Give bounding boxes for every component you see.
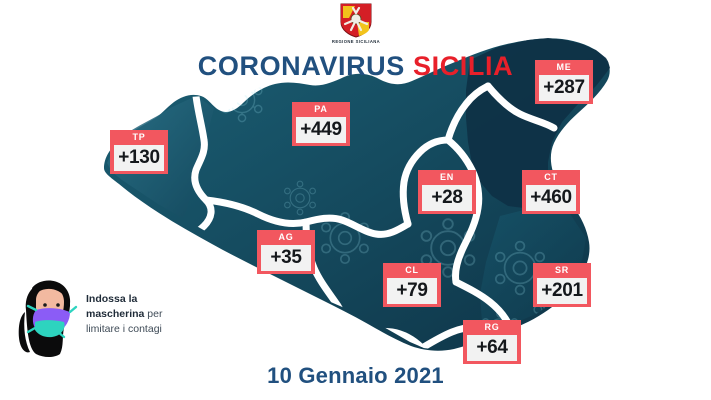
province-badge-me[interactable]: ME +287 — [535, 60, 593, 104]
province-code-me: ME — [535, 60, 593, 75]
woman-wearing-mask-icon — [14, 276, 80, 360]
province-value-cl: +79 — [387, 278, 437, 304]
province-badge-pa[interactable]: PA +449 — [292, 102, 350, 146]
mask-notice-text: Indossa la mascherina per limitare i con… — [86, 292, 214, 337]
province-code-tp: TP — [110, 130, 168, 145]
province-badge-ag[interactable]: AG +35 — [257, 230, 315, 274]
province-code-ag: AG — [257, 230, 315, 245]
report-date: 10 Gennaio 2021 — [0, 363, 711, 389]
province-badge-ct[interactable]: CT +460 — [522, 170, 580, 214]
province-value-en: +28 — [422, 185, 472, 211]
province-value-ct: +460 — [526, 185, 576, 211]
title-sicilia: SICILIA — [413, 51, 513, 81]
trinacria-shield-icon — [339, 2, 373, 38]
mask-line1: Indossa la — [86, 293, 137, 305]
province-value-me: +287 — [539, 75, 589, 101]
province-value-tp: +130 — [114, 145, 164, 171]
mask-line2-bold: mascherina — [86, 308, 144, 320]
regione-siciliana-logo: REGIONE SICILIANA — [330, 2, 382, 46]
province-value-pa: +449 — [296, 117, 346, 143]
province-badge-tp[interactable]: TP +130 — [110, 130, 168, 174]
page-title: CORONAVIRUS SICILIA — [0, 51, 711, 82]
province-code-cl: CL — [383, 263, 441, 278]
mask-line3: limitare i contagi — [86, 323, 162, 335]
province-badge-cl[interactable]: CL +79 — [383, 263, 441, 307]
province-value-sr: +201 — [537, 278, 587, 304]
mask-line2-rest: per — [144, 308, 162, 320]
province-code-rg: RG — [463, 320, 521, 335]
mask-notice: Indossa la mascherina per limitare i con… — [14, 276, 214, 360]
province-code-pa: PA — [292, 102, 350, 117]
title-coronavirus: CORONAVIRUS — [198, 51, 405, 81]
infographic-canvas: REGIONE SICILIANA CORONAVIRUS SICILIA TP… — [0, 0, 711, 400]
province-badge-rg[interactable]: RG +64 — [463, 320, 521, 364]
province-value-ag: +35 — [261, 245, 311, 271]
province-code-sr: SR — [533, 263, 591, 278]
province-badge-en[interactable]: EN +28 — [418, 170, 476, 214]
province-value-rg: +64 — [467, 335, 517, 361]
province-code-ct: CT — [522, 170, 580, 185]
province-code-en: EN — [418, 170, 476, 185]
province-badge-sr[interactable]: SR +201 — [533, 263, 591, 307]
logo-caption: REGIONE SICILIANA — [330, 39, 382, 44]
